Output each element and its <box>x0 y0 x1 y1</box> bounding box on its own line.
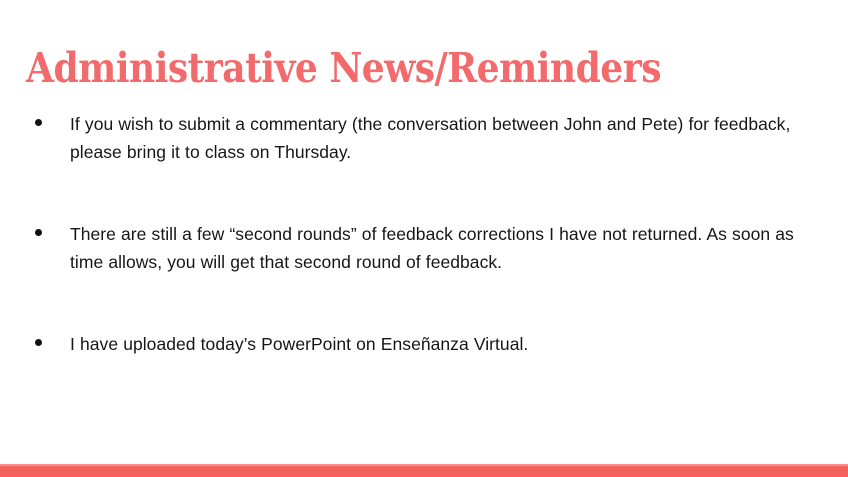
accent-bar-highlight <box>0 464 848 466</box>
list-item-text: There are still a few “second rounds” of… <box>70 220 820 276</box>
bullet-dot-icon <box>35 339 42 346</box>
list-item: There are still a few “second rounds” of… <box>30 220 820 276</box>
page-title: Administrative News/Reminders <box>26 43 721 93</box>
list-item-text: If you wish to submit a commentary (the … <box>70 110 820 166</box>
list-item: I have uploaded today’s PowerPoint on En… <box>30 330 820 358</box>
bullet-dot-icon <box>35 229 42 236</box>
presentation-slide: Administrative News/Reminders If you wis… <box>0 0 848 477</box>
list-item: If you wish to submit a commentary (the … <box>30 110 820 166</box>
bullet-list: If you wish to submit a commentary (the … <box>30 110 820 358</box>
footer-accent-bar <box>0 464 848 477</box>
list-item-text: I have uploaded today’s PowerPoint on En… <box>70 330 820 358</box>
bullet-dot-icon <box>35 119 42 126</box>
